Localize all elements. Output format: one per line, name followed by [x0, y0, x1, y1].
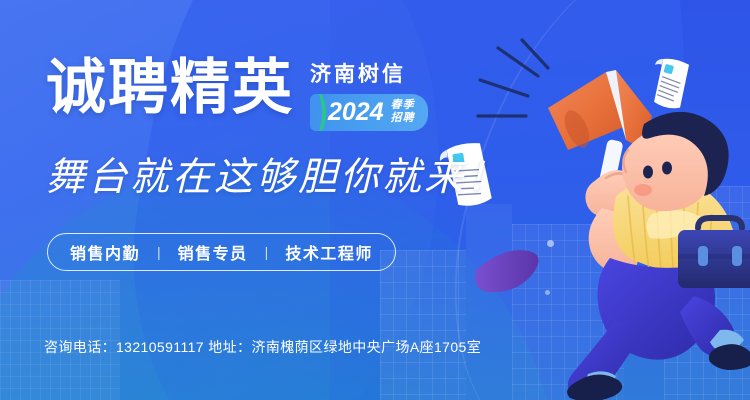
season-label: 春季 招聘: [391, 100, 415, 124]
season-line-2: 招聘: [391, 113, 415, 125]
position-item-1: 销售内勤: [70, 240, 140, 264]
year-badge: 2024 春季 招聘: [310, 94, 428, 131]
headline-row: 诚聘精英 济南树信 2024 春季 招聘: [46, 58, 428, 131]
position-item-3: 技术工程师: [285, 240, 373, 264]
page-title: 诚聘精英: [46, 58, 294, 118]
badge-swoosh-accent: [310, 94, 326, 131]
position-separator: |: [265, 244, 269, 260]
banner-content: 诚聘精英 济南树信 2024 春季 招聘 舞台就在这够胆你就来！ 销售内勤 | …: [0, 0, 750, 400]
position-item-2: 销售专员: [178, 240, 248, 264]
position-separator: |: [157, 244, 161, 260]
positions-list: 销售内勤 | 销售专员 | 技术工程师: [47, 233, 396, 271]
brand-block: 济南树信 2024 春季 招聘: [310, 58, 428, 131]
contact-info: 咨询电话：13210591117 地址：济南槐荫区绿地中央广场A座1705室: [44, 337, 481, 357]
recruitment-banner: 诚聘精英 济南树信 2024 春季 招聘 舞台就在这够胆你就来！ 销售内勤 | …: [0, 0, 750, 400]
season-line-1: 春季: [391, 100, 415, 112]
brand-name: 济南树信: [310, 64, 406, 85]
year-label: 2024: [328, 100, 384, 125]
subheadline: 舞台就在这够胆你就来！: [46, 158, 508, 197]
